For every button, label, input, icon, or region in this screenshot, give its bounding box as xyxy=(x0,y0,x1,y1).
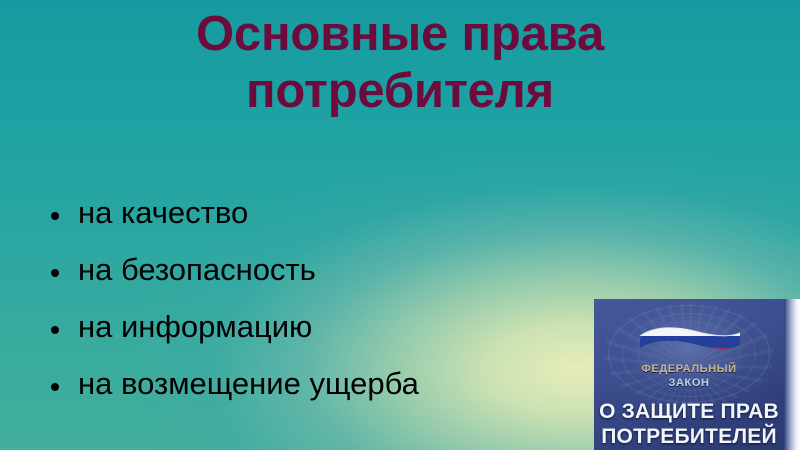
list-item: на возмещение ущерба xyxy=(44,364,604,404)
book-page-edge xyxy=(784,299,800,450)
book-title-line-2: ПОТРЕБИТЕЛЕЙ xyxy=(594,425,784,449)
rights-bullet-list: на качество на безопасность на информаци… xyxy=(44,193,604,404)
list-item: на качество xyxy=(44,193,604,233)
slide-title-line-1: Основные права xyxy=(60,6,740,63)
book-zakon-label: ЗАКОН xyxy=(594,377,784,389)
presentation-slide: Основные права потребителя на качество н… xyxy=(0,0,800,450)
list-item-label: на возмещение ущерба xyxy=(78,366,419,401)
list-item: на информацию xyxy=(44,307,604,347)
book-cover-photo: ФЕДЕРАЛЬНЫЙ ЗАКОН О ЗАЩИТЕ ПРАВ ПОТРЕБИТ… xyxy=(594,299,800,450)
bullet-point-icon xyxy=(51,212,59,220)
book-title-line-1: О ЗАЩИТЕ ПРАВ xyxy=(594,400,784,424)
bullet-point-icon xyxy=(51,269,59,277)
bullet-point-icon xyxy=(51,383,59,391)
list-item-label: на качество xyxy=(78,195,248,230)
list-item-label: на безопасность xyxy=(78,252,316,287)
slide-title-line-2: потребителя xyxy=(60,63,740,120)
list-item: на безопасность xyxy=(44,250,604,290)
russian-flag-icon xyxy=(638,325,742,359)
slide-title: Основные права потребителя xyxy=(60,6,740,120)
book-cover-front: ФЕДЕРАЛЬНЫЙ ЗАКОН О ЗАЩИТЕ ПРАВ ПОТРЕБИТ… xyxy=(594,299,784,450)
bullet-point-icon xyxy=(51,326,59,334)
list-item-label: на информацию xyxy=(78,309,312,344)
book-federal-law-label: ФЕДЕРАЛЬНЫЙ xyxy=(594,363,784,375)
